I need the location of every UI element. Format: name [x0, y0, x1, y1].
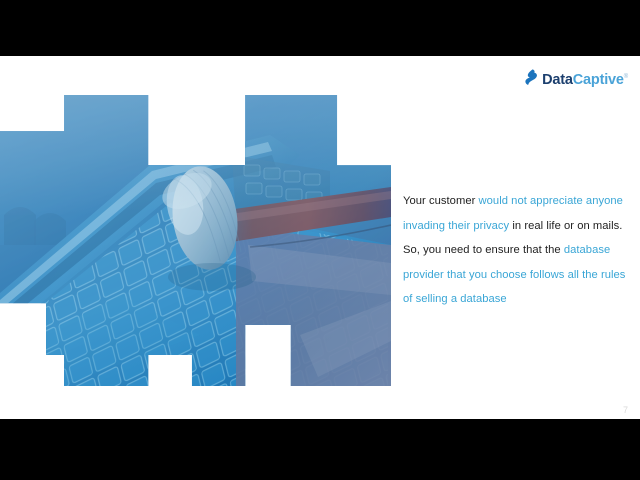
slide-image-container [0, 95, 391, 386]
letterbox-bar-bottom [0, 419, 640, 480]
gavel-on-laptop-keyboard-image [0, 95, 391, 386]
slide-page-number: 7 [623, 405, 628, 415]
logo-trademark: ® [624, 74, 628, 80]
datacaptive-droplet-mark-icon [525, 69, 538, 91]
video-player-stage: DataCaptive® [0, 0, 640, 480]
logo-word-data: Data [542, 72, 573, 88]
logo-word-captive: Captive [573, 72, 624, 88]
letterbox-bar-top [0, 0, 640, 56]
presentation-slide: DataCaptive® [0, 56, 640, 419]
datacaptive-logo-text: DataCaptive® [542, 73, 628, 88]
datacaptive-logo: DataCaptive® [525, 69, 628, 91]
slide-body-text: Your customer would not appreciate anyon… [403, 189, 628, 312]
body-segment-plain-1: Your customer [403, 195, 479, 207]
